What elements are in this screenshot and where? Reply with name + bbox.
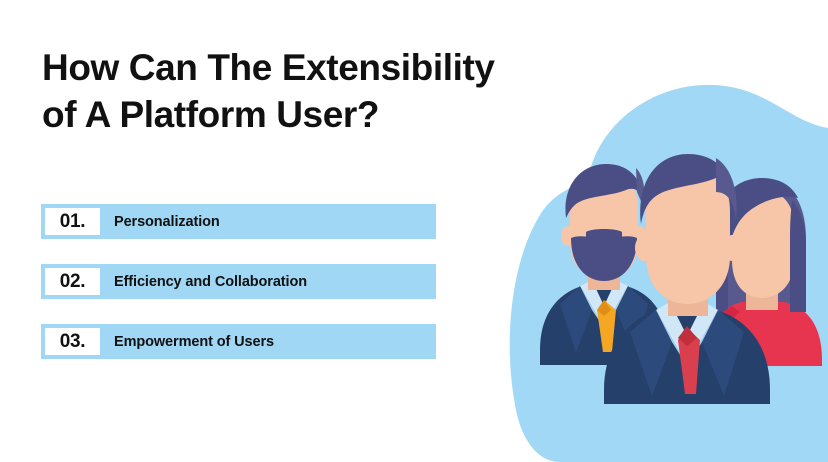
list-item-label: Efficiency and Collaboration [114, 274, 307, 290]
headline-line-2: of A Platform User? [42, 91, 622, 138]
slide-canvas: How Can The Extensibility of A Platform … [0, 0, 828, 462]
list-item-number-badge: 01. [45, 208, 100, 235]
list-item-label: Empowerment of Users [114, 334, 274, 350]
list-item[interactable]: 03. Empowerment of Users [41, 324, 436, 359]
list-item-number-badge: 03. [45, 328, 100, 355]
list-item-label: Personalization [114, 214, 220, 230]
numbered-list: 01. Personalization 02. Efficiency and C… [41, 204, 436, 359]
list-item[interactable]: 02. Efficiency and Collaboration [41, 264, 436, 299]
list-item-number-badge: 02. [45, 268, 100, 295]
list-item-number: 01. [60, 212, 86, 231]
list-item-number: 02. [60, 272, 86, 291]
list-item[interactable]: 01. Personalization [41, 204, 436, 239]
page-title: How Can The Extensibility of A Platform … [42, 44, 622, 138]
headline-line-1: How Can The Extensibility [42, 44, 622, 91]
list-item-number: 03. [60, 332, 86, 351]
